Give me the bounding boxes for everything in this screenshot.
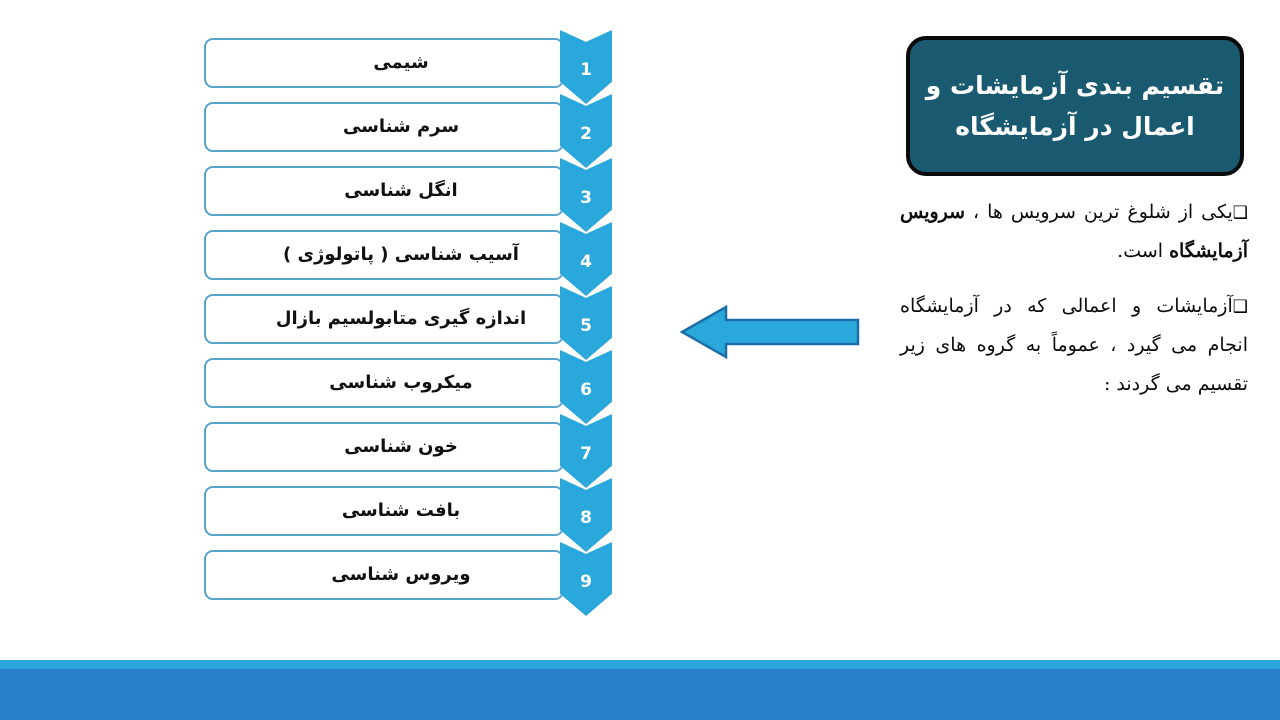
chevron-step-number: 8: [580, 510, 592, 552]
chevron-step-number: 5: [580, 318, 592, 360]
bullet-square-icon: ❑: [1233, 297, 1248, 317]
page-title: تقسیم بندی آزمایشات و اعمال در آزمایشگاه: [926, 65, 1224, 148]
process-item-4[interactable]: آسیب شناسی ( پاتولوژی ): [204, 230, 564, 280]
chevron-step-3[interactable]: 3: [560, 158, 612, 232]
page-title-line-1: تقسیم بندی آزمایشات و: [926, 71, 1224, 100]
chevron-step-number: 3: [580, 190, 592, 232]
process-item-box[interactable]: سرم شناسی: [204, 102, 564, 152]
chevron-step-number: 6: [580, 382, 592, 424]
chevron-step-4[interactable]: 4: [560, 222, 612, 296]
chevron-step-2[interactable]: 2: [560, 94, 612, 168]
process-item-6[interactable]: میکروب شناسی: [204, 358, 564, 408]
process-item-9[interactable]: ویروس شناسی: [204, 550, 564, 600]
process-item-label: سرم شناسی: [343, 116, 459, 138]
chevron-step-8[interactable]: 8: [560, 478, 612, 552]
process-item-2[interactable]: سرم شناسی: [204, 102, 564, 152]
chevron-step-number: 4: [580, 254, 592, 296]
footer-bar: [0, 669, 1280, 720]
chevron-step-6[interactable]: 6: [560, 350, 612, 424]
process-item-label: شیمی: [373, 52, 428, 74]
process-item-label: آسیب شناسی ( پاتولوژی ): [283, 244, 519, 266]
bullet-paragraph-1: ❑یکی از شلوغ ترین سرویس ها ، سرویس آزمای…: [900, 193, 1248, 271]
process-item-box[interactable]: ویروس شناسی: [204, 550, 564, 600]
bullet-text-segment: آزمایشات و اعمالی که در آزمایشگاه انجام …: [900, 295, 1248, 395]
process-item-label: خون شناسی: [344, 436, 458, 458]
process-item-7[interactable]: خون شناسی: [204, 422, 564, 472]
process-item-label: بافت شناسی: [342, 500, 460, 522]
process-item-label: انگل شناسی: [344, 180, 457, 202]
chevron-step-9[interactable]: 9: [560, 542, 612, 616]
process-item-box[interactable]: آسیب شناسی ( پاتولوژی ): [204, 230, 564, 280]
page-title-line-2: اعمال در آزمایشگاه: [955, 112, 1194, 141]
chevron-step-7[interactable]: 7: [560, 414, 612, 488]
process-item-3[interactable]: انگل شناسی: [204, 166, 564, 216]
chevron-step-5[interactable]: 5: [560, 286, 612, 360]
process-item-8[interactable]: بافت شناسی: [204, 486, 564, 536]
process-item-box[interactable]: بافت شناسی: [204, 486, 564, 536]
slide-canvas: شیمیسرم شناسیانگل شناسیآسیب شناسی ( پاتو…: [0, 0, 1280, 720]
process-item-box[interactable]: انگل شناسی: [204, 166, 564, 216]
process-item-box[interactable]: خون شناسی: [204, 422, 564, 472]
bullet-square-icon: ❑: [1233, 203, 1248, 223]
process-item-box[interactable]: شیمی: [204, 38, 564, 88]
bullet-paragraph-2: ❑آزمایشات و اعمالی که در آزمایشگاه انجام…: [900, 287, 1248, 404]
footer-accent-strip: [0, 660, 1280, 669]
bullet-text-segment: یکی از شلوغ ترین سرویس ها ،: [965, 201, 1233, 223]
left-pointing-arrow-icon: [680, 303, 860, 361]
process-item-box[interactable]: میکروب شناسی: [204, 358, 564, 408]
chevron-step-number: 9: [580, 574, 592, 616]
chevron-number-column: 123456789: [560, 30, 614, 640]
process-item-box[interactable]: اندازه گیری متابولسیم بازال: [204, 294, 564, 344]
bullet-list: ❑یکی از شلوغ ترین سرویس ها ، سرویس آزمای…: [900, 193, 1248, 404]
process-item-label: میکروب شناسی: [329, 372, 472, 394]
process-item-5[interactable]: اندازه گیری متابولسیم بازال: [204, 294, 564, 344]
slide-title-box: تقسیم بندی آزمایشات و اعمال در آزمایشگاه: [906, 36, 1244, 176]
process-item-1[interactable]: شیمی: [204, 38, 564, 88]
chevron-step-number: 2: [580, 126, 592, 168]
chevron-step-number: 1: [580, 62, 592, 104]
chevron-step-number: 7: [580, 446, 592, 488]
chevron-step-1[interactable]: 1: [560, 30, 612, 104]
bullet-text-segment: است.: [1117, 240, 1169, 262]
process-item-label: اندازه گیری متابولسیم بازال: [276, 308, 526, 330]
process-item-label: ویروس شناسی: [331, 564, 470, 586]
